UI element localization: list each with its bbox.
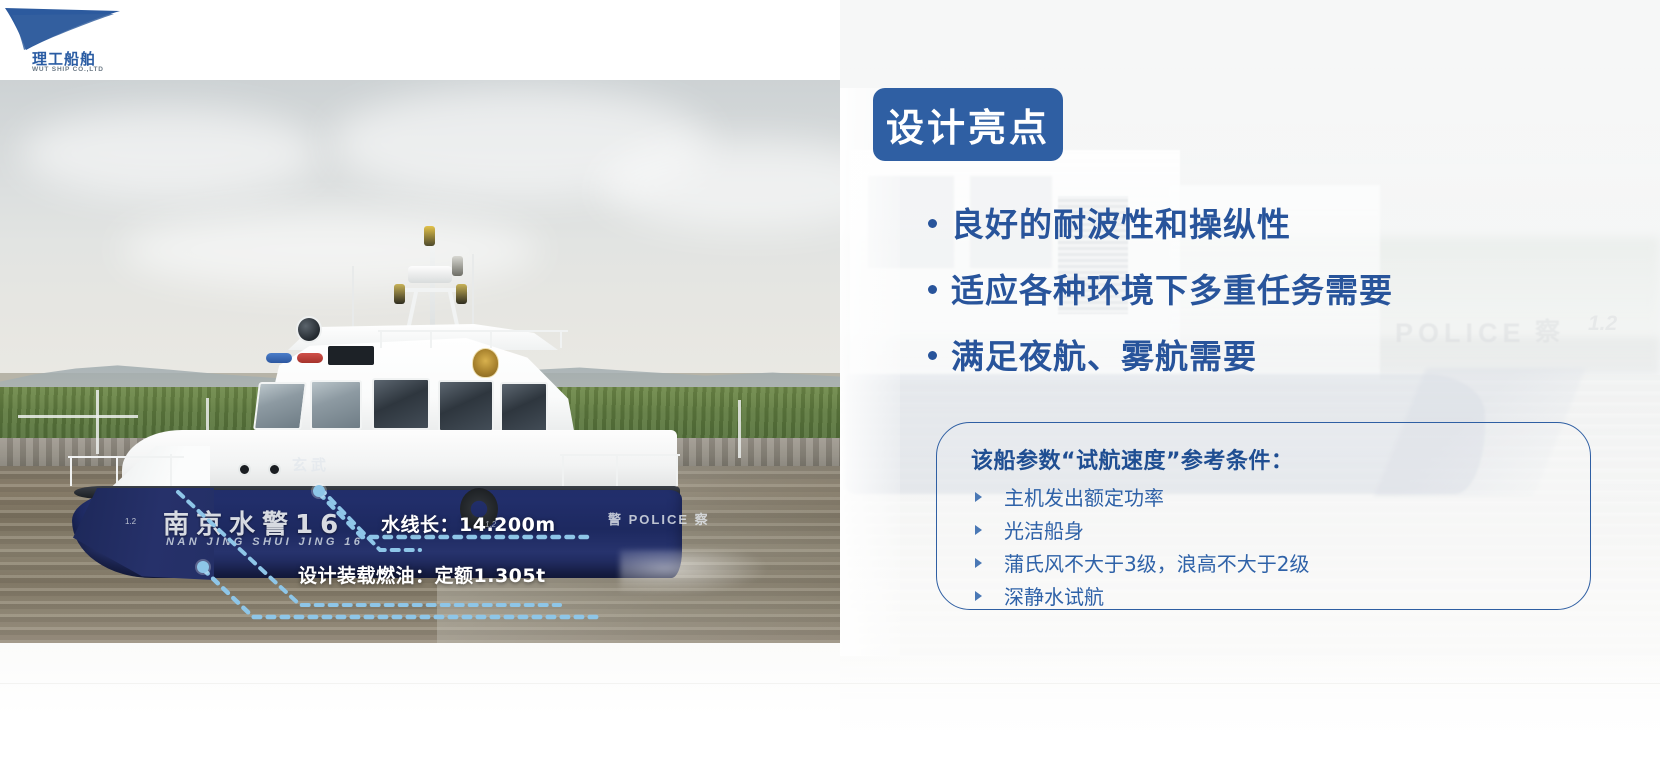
- note-items-list: 主机发出额定功率 光洁船身 蒲氏风不大于3级，浪高不大于2级 深静水试航: [975, 480, 1575, 612]
- highlight-text: 适应各种环境下多重任务需要: [951, 264, 1393, 312]
- callout-dot-waterline[interactable]: [313, 485, 325, 497]
- triangle-bullet-icon: [975, 492, 982, 502]
- trial-speed-conditions-box: 该船参数“试航速度”参考条件： 主机发出额定功率 光洁船身 蒲氏风不大于3级，浪…: [936, 422, 1591, 610]
- callout-label-fuel: 设计装载燃油：定额1.305t: [298, 561, 546, 588]
- bullet-dot-icon: [928, 285, 937, 294]
- callout-dashed-paths: [0, 0, 840, 765]
- bullet-dot-icon: [928, 351, 937, 360]
- list-item: 光洁船身: [975, 513, 1575, 546]
- note-item-text: 光洁船身: [1004, 515, 1084, 544]
- callout-dot-fuel[interactable]: [197, 561, 209, 573]
- page-title: 设计亮点: [886, 97, 1050, 152]
- brand-logo[interactable]: 理工船舶 WUT SHIP CO.,LTD: [0, 0, 220, 82]
- list-item: 深静水试航: [975, 579, 1575, 612]
- right-content-column: 设计亮点 良好的耐波性和操纵性 适应各种环境下多重任务需要 满足夜航、雾航需要 …: [840, 0, 1660, 765]
- list-item: 蒲氏风不大于3级，浪高不大于2级: [975, 546, 1575, 579]
- logo-text-en: WUT SHIP CO.,LTD: [32, 66, 104, 73]
- section-title-box: 设计亮点: [873, 88, 1063, 161]
- note-title: 该船参数“试航速度”参考条件：: [971, 443, 1293, 475]
- list-item: 主机发出额定功率: [975, 480, 1575, 513]
- note-item-text: 主机发出额定功率: [1004, 482, 1164, 511]
- triangle-bullet-icon: [975, 591, 982, 601]
- triangle-bullet-icon: [975, 558, 982, 568]
- swoosh-triangle-logo-icon: [4, 6, 122, 52]
- slide-root: POLICE 察 1.2: [0, 0, 1660, 765]
- highlights-list: 良好的耐波性和操纵性 适应各种环境下多重任务需要 满足夜航、雾航需要: [928, 198, 1628, 396]
- list-item: 适应各种环境下多重任务需要: [928, 264, 1628, 312]
- list-item: 满足夜航、雾航需要: [928, 330, 1628, 378]
- note-item-text: 蒲氏风不大于3级，浪高不大于2级: [1004, 548, 1309, 577]
- callout-label-waterline: 水线长：14.200m: [381, 510, 556, 537]
- list-item: 良好的耐波性和操纵性: [928, 198, 1628, 246]
- bullet-dot-icon: [928, 219, 937, 228]
- note-item-text: 深静水试航: [1004, 581, 1104, 610]
- highlight-text: 良好的耐波性和操纵性: [951, 198, 1291, 246]
- highlight-text: 满足夜航、雾航需要: [951, 330, 1257, 378]
- triangle-bullet-icon: [975, 525, 982, 535]
